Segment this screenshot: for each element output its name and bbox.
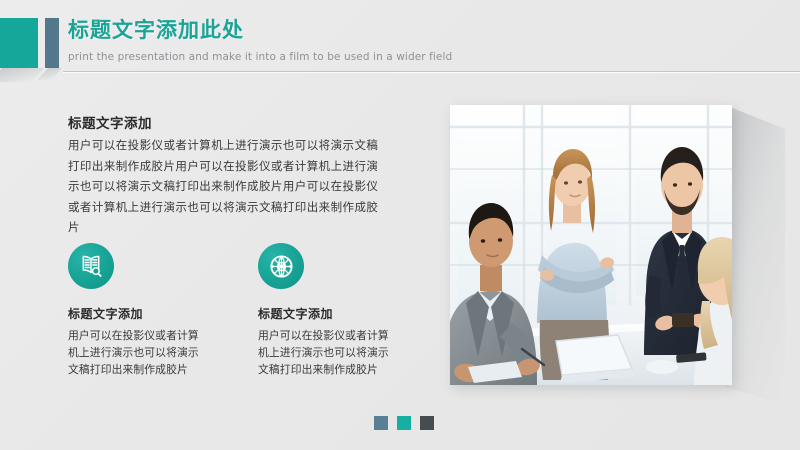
feature-item: 标题文字添加 用户可以在投影仪或者计算机上进行演示也可以将演示文稿打印出来制作成… (258, 243, 413, 378)
left-content-column: 标题文字添加 用户可以在投影仪或者计算机上进行演示也可以将演示文稿打印出来制作成… (0, 0, 440, 450)
feature-heading: 标题文字添加 (68, 305, 223, 322)
slide-canvas: 标题文字添加此处 print the presentation and make… (0, 0, 800, 450)
lead-body-text: 用户可以在投影仪或者计算机上进行演示也可以将演示文稿打印出来制作成胶片用户可以在… (68, 135, 378, 238)
pagination-dots (374, 416, 434, 430)
photo-block (450, 105, 732, 385)
feature-body-text: 用户可以在投影仪或者计算机上进行演示也可以将演示文稿打印出来制作成胶片 (68, 327, 206, 378)
photo-drop-shadow (725, 105, 785, 405)
pager-dot-3[interactable] (420, 416, 434, 430)
feature-heading: 标题文字添加 (258, 305, 413, 322)
globe-network-icon[interactable] (258, 243, 304, 289)
pager-dot-2[interactable] (397, 416, 411, 430)
business-meeting-photo (450, 105, 732, 385)
book-search-icon[interactable] (68, 243, 114, 289)
pager-dot-1[interactable] (374, 416, 388, 430)
feature-item: 标题文字添加 用户可以在投影仪或者计算机上进行演示也可以将演示文稿打印出来制作成… (68, 243, 223, 378)
lead-heading: 标题文字添加 (68, 112, 152, 132)
feature-body-text: 用户可以在投影仪或者计算机上进行演示也可以将演示文稿打印出来制作成胶片 (258, 327, 396, 378)
